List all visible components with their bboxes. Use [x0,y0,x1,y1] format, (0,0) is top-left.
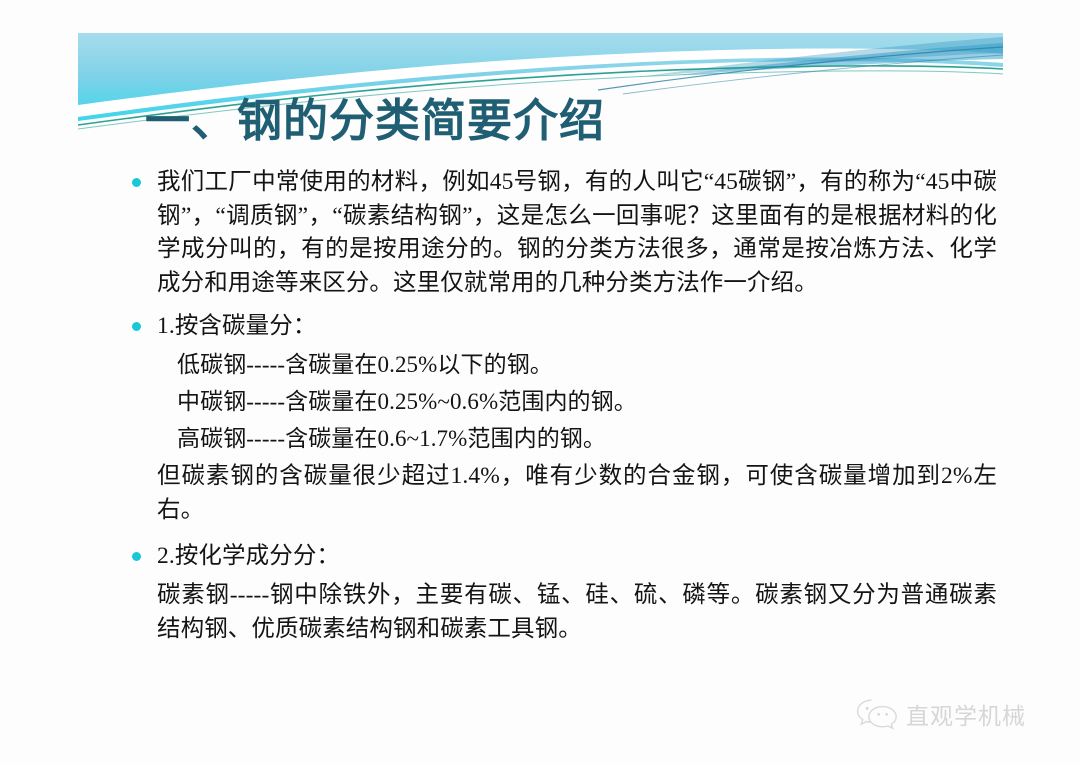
page-title: 一、钢的分类简要介绍 [145,96,605,146]
bullet-dot-icon [132,178,141,187]
title-area: 一、钢的分类简要介绍 [78,96,1003,158]
bullet-intro-text: 我们工厂中常使用的材料，例如45号钢，有的人叫它“45碳钢”，有的称为“45中碳… [78,166,1003,300]
bullet-by-composition-heading: 2.按化学成分分： [78,540,1003,574]
slide-body: 我们工厂中常使用的材料，例如45号钢，有的人叫它“45碳钢”，有的称为“45中碳… [78,166,1003,686]
watermark: 直观学机械 [855,697,1026,731]
composition-detail-text: 碳素钢-----钢中除铁外，主要有碳、锰、硅、硫、磷等。碳素钢又分为普通碳素结构… [78,578,1003,646]
presentation-slide: 一、钢的分类简要介绍 我们工厂中常使用的材料，例如45号钢，有的人叫它“45碳钢… [0,0,1080,764]
bullet-item-by-carbon: 1.按含碳量分： [78,310,1003,344]
sub-line-high-carbon: 高碳钢-----含碳量在0.6~1.7%范围内的钢。 [78,422,1003,457]
bullet-item-by-composition: 2.按化学成分分： [78,540,1003,574]
watermark-label: 直观学机械 [906,697,1026,731]
bullet-item-intro: 我们工厂中常使用的材料，例如45号钢，有的人叫它“45碳钢”，有的称为“45中碳… [78,166,1003,300]
sub-line-low-carbon: 低碳钢-----含碳量在0.25%以下的钢。 [78,348,1003,383]
carbon-note-text: 但碳素钢的含碳量很少超过1.4%，唯有少数的合金钢，可使含碳量增加到2%左右。 [78,459,1003,527]
sub-line-medium-carbon: 中碳钢-----含碳量在0.25%~0.6%范围内的钢。 [78,385,1003,420]
wechat-icon [855,697,899,731]
bullet-dot-icon [132,552,141,561]
bullet-by-carbon-heading: 1.按含碳量分： [78,310,1003,344]
